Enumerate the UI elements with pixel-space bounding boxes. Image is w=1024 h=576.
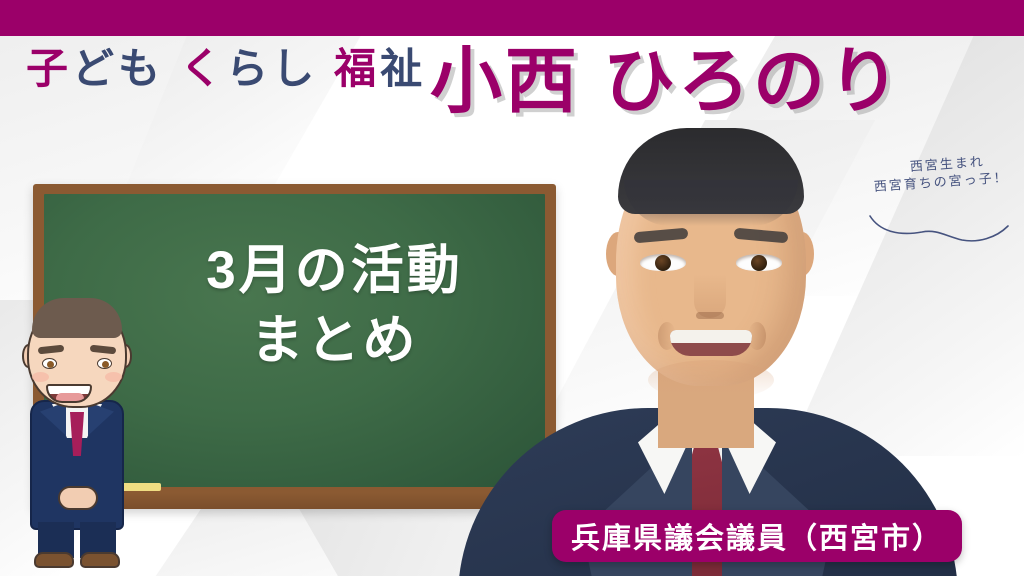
tagline-char-9: 祉	[380, 48, 424, 90]
handwritten-note: 西宮生まれ 西宮育ちの宮っ子！	[866, 158, 1016, 248]
mascot-eye-right	[97, 358, 112, 369]
mascot-shoe-left	[34, 552, 74, 568]
candidate-portrait	[498, 108, 918, 576]
portrait-eye-right	[736, 254, 782, 271]
note-line-2: 西宮育ちの宮っ子！	[873, 168, 1016, 198]
mascot-shoe-right	[80, 552, 120, 568]
portrait-chin	[648, 360, 774, 400]
tagline-char-0: 子	[26, 48, 70, 90]
portrait-eye-left	[640, 254, 686, 271]
note-underline-squiggle	[866, 210, 1016, 248]
mascot-hair	[32, 298, 122, 338]
mascot-hands	[58, 486, 98, 510]
tagline: 子どもくらし福祉	[26, 40, 424, 98]
mascot-caricature	[18, 300, 136, 576]
blackboard-line-2: まとめ	[124, 306, 545, 376]
office-title-badge: 兵庫県議会議員（西宮市）	[552, 510, 962, 562]
mascot-tongue	[56, 393, 84, 401]
blackboard-line-1: 3月の活動	[124, 236, 545, 306]
mascot-cheek-left	[32, 372, 49, 382]
tagline-char-1: ど	[72, 48, 116, 90]
portrait-hair	[618, 128, 804, 214]
campaign-banner: 子どもくらし福祉 小西 ひろのり 3月の活動 まとめ	[0, 0, 1024, 576]
portrait-nostrils	[696, 312, 724, 319]
tagline-char-8: 福	[334, 48, 378, 90]
candidate-name: 小西 ひろのり	[430, 36, 903, 112]
tagline-char-5: ら	[226, 48, 270, 90]
office-title-label: 兵庫県議会議員（西宮市）	[571, 515, 943, 557]
mascot-cheek-right	[105, 372, 122, 382]
tagline-char-4: く	[180, 48, 224, 90]
tagline-char-2: も	[118, 48, 162, 90]
mascot-eye-left	[42, 358, 57, 369]
tagline-char-6: し	[272, 48, 316, 90]
portrait-mouth	[670, 330, 752, 356]
